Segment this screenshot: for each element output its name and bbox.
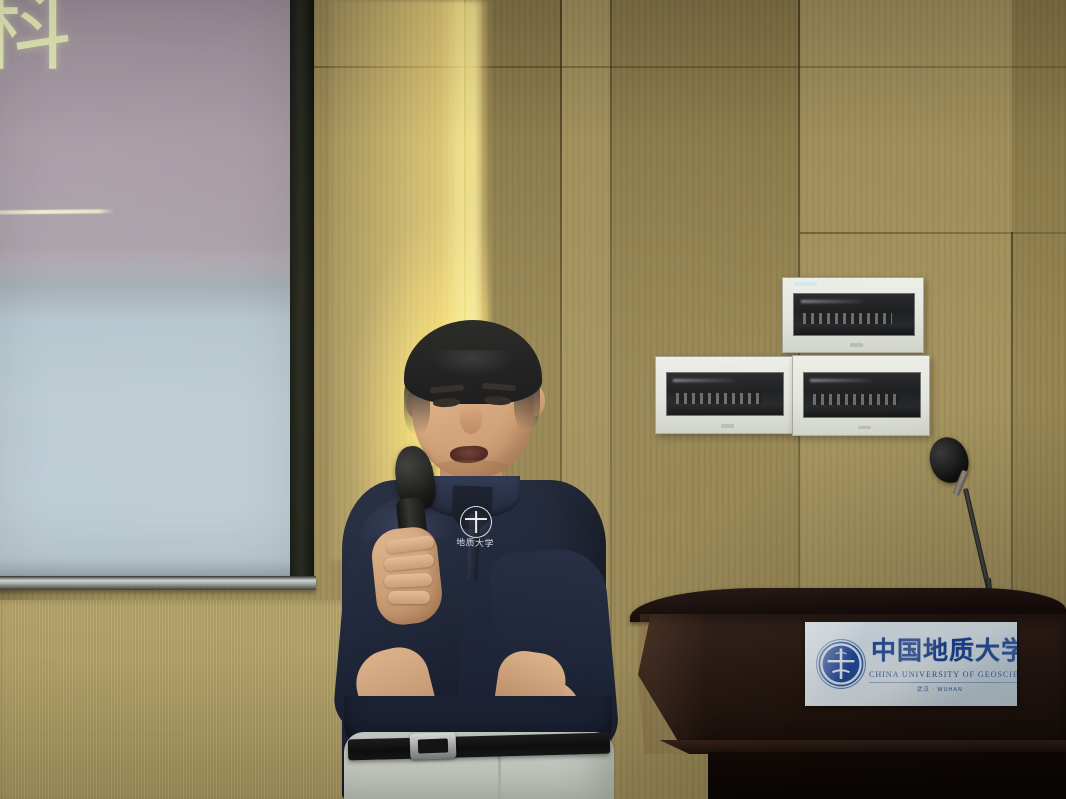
podium-sign: 中国地质大学 CHINA UNIVERSITY OF GEOSCIENCES 武… — [805, 622, 1017, 706]
sign-english-name: CHINA UNIVERSITY OF GEOSCIENCES — [869, 670, 1017, 683]
podium-base — [708, 752, 1066, 799]
projection-screen: 科 — [0, 0, 320, 594]
finger — [388, 591, 430, 604]
electrical-panel-lower-right[interactable] — [792, 355, 930, 436]
panel-label-tag — [794, 282, 816, 286]
panel-window — [803, 372, 921, 418]
finger — [384, 573, 433, 588]
electrical-panel-top-right[interactable] — [782, 277, 924, 353]
panel-latch[interactable] — [858, 426, 870, 430]
university-emblem-icon — [815, 638, 867, 690]
panel-window — [793, 293, 915, 336]
panel-latch[interactable] — [721, 424, 733, 428]
hair — [404, 320, 542, 404]
panel-latch[interactable] — [850, 343, 863, 347]
sign-chinese-name: 中国地质大学 — [871, 636, 1013, 666]
screen-surface: 科 — [0, 0, 294, 576]
slide-text: 科 — [0, 0, 76, 76]
sign-sub-line: 武汉 · WUHAN — [917, 685, 963, 693]
breaker-row — [813, 394, 899, 405]
nose — [460, 404, 482, 434]
screen-glare — [0, 0, 294, 576]
polo-logo-text: 地质大学 — [456, 538, 502, 550]
screen-bottom-bar — [0, 576, 316, 590]
wall-seam — [800, 232, 1066, 234]
speaker: 地质大学 — [300, 300, 680, 799]
breaker-row — [803, 313, 892, 324]
breaker-row — [676, 393, 762, 404]
belt-buckle — [410, 732, 457, 760]
photo-scene: 科 — [0, 0, 1066, 799]
panel-window — [666, 372, 784, 416]
university-emblem-icon-small — [460, 506, 492, 538]
